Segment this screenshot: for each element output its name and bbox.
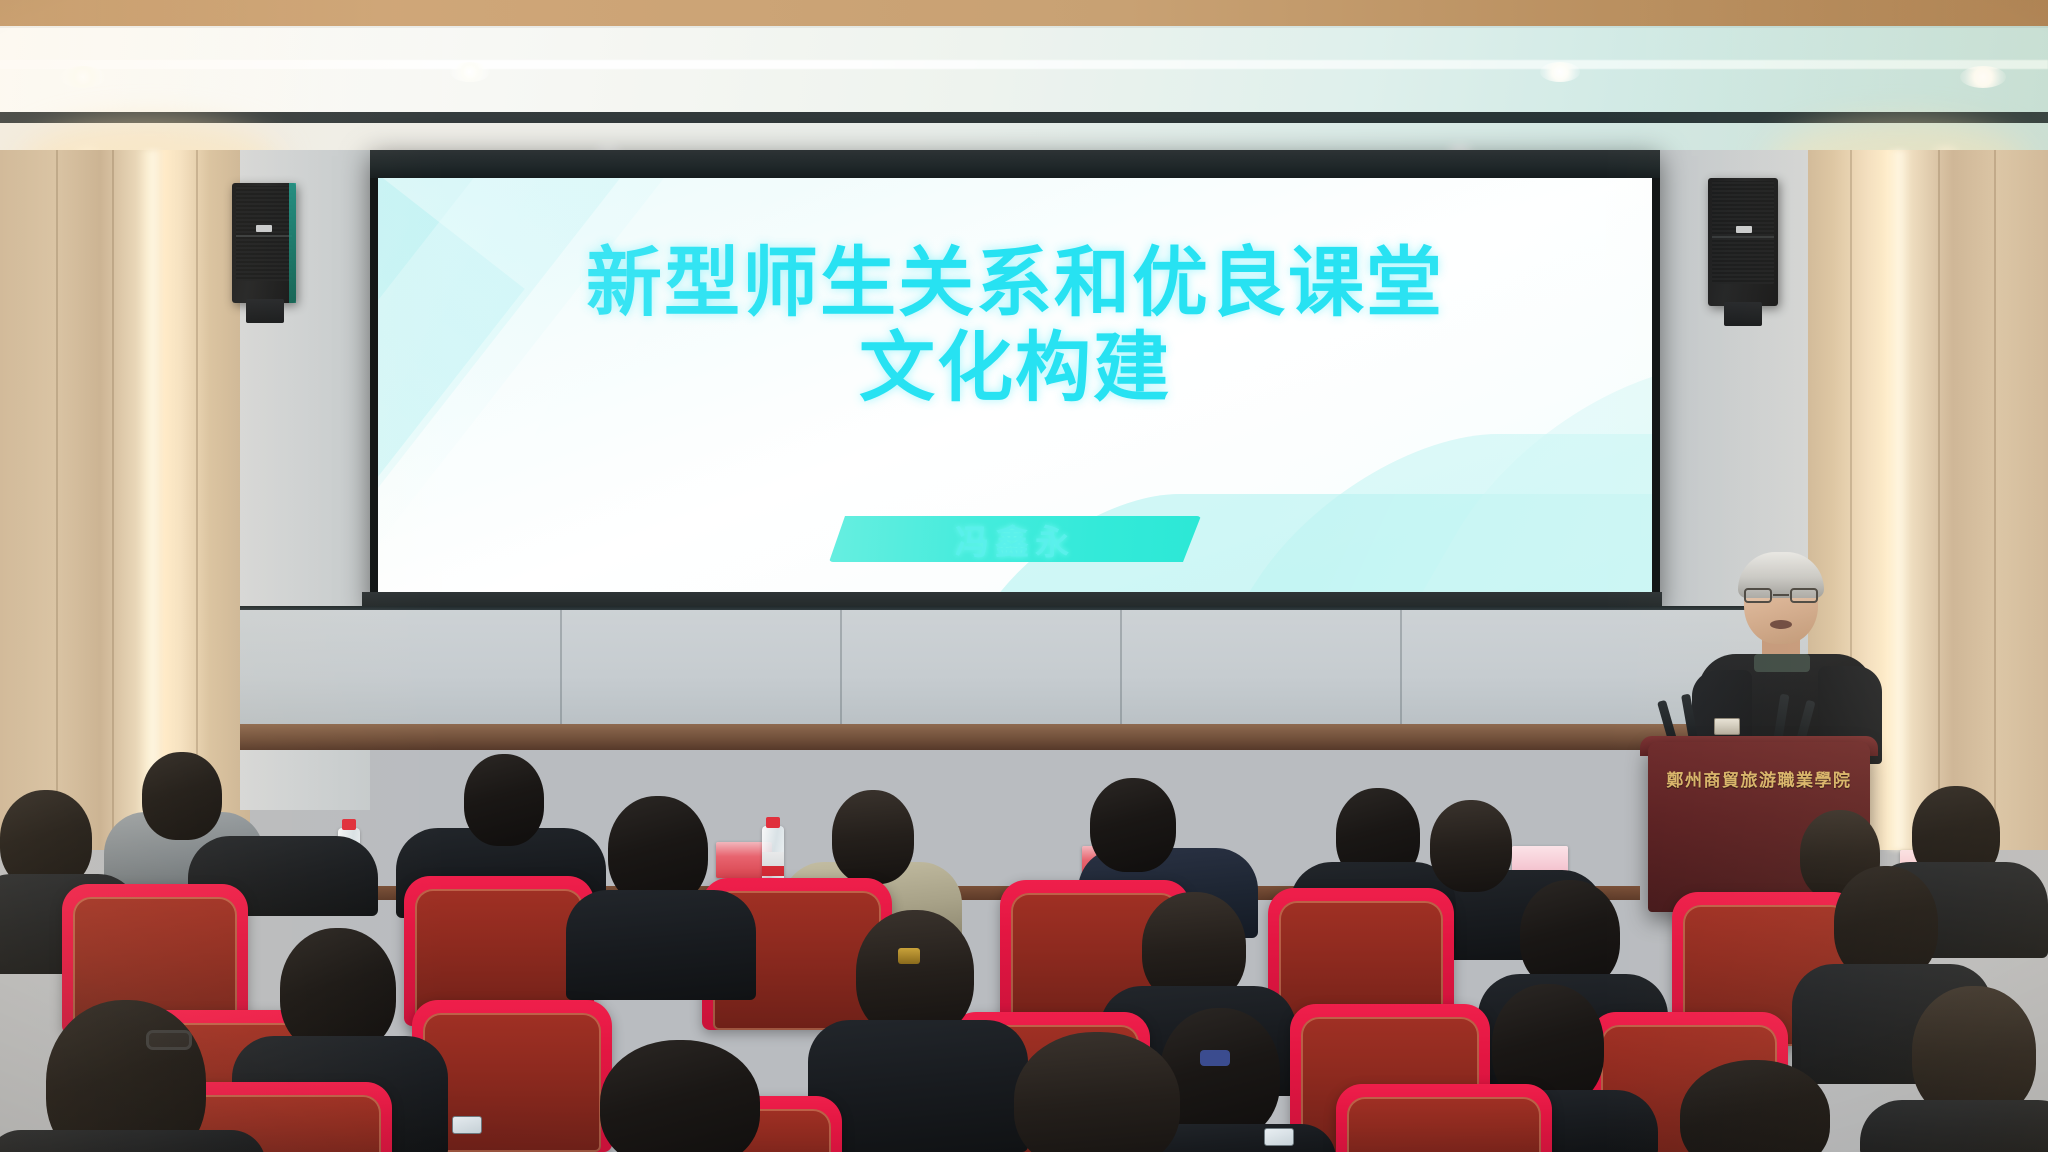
presenter-mouth: [1770, 620, 1792, 629]
audience-member-shoulders: [0, 1130, 266, 1152]
stage-wall-seam: [1400, 610, 1402, 730]
stage-wall-seam: [1120, 610, 1122, 730]
hair-clip-icon: [898, 948, 920, 964]
glasses-icon: [1744, 588, 1818, 604]
screen-valence-bar: [370, 150, 1660, 178]
audience-member-shoulders: [566, 890, 756, 1000]
audience-member-head: [856, 910, 974, 1038]
audience-member-head: [832, 790, 914, 884]
ceiling-downlight: [1960, 66, 2006, 88]
presenter-collar: [1754, 654, 1810, 672]
presentation-slide: 新型师生关系和优良课堂 文化构建 冯鑫永: [378, 178, 1652, 594]
ceiling-slab: [0, 26, 2048, 114]
ceiling-downlight: [60, 66, 106, 88]
presenter-name-badge: 冯鑫永: [829, 516, 1201, 562]
wall-speaker-left: [232, 183, 296, 303]
auditorium-seat[interactable]: [1336, 1084, 1552, 1152]
glasses-icon: [146, 1030, 192, 1050]
audience-member-head: [600, 1040, 760, 1152]
slide-title-line-2: 文化构建: [378, 325, 1652, 410]
stage-front-skirt: [240, 724, 1808, 750]
audience-member-head: [1430, 800, 1512, 892]
hair-tie-icon: [1200, 1050, 1230, 1066]
auditorium-scene: 新型师生关系和优良课堂 文化构建 冯鑫永 鄭州商貿旅游職: [0, 0, 2048, 1152]
stage-wall-seam: [840, 610, 842, 730]
smartphone-icon[interactable]: [1264, 1128, 1294, 1146]
podium-badge-plate: [1714, 718, 1740, 735]
audience-member-head: [464, 754, 544, 846]
ceiling-strip-light: [0, 60, 2048, 69]
ceiling-downlight: [1540, 62, 1580, 82]
ceiling-track-rail: [0, 112, 2048, 123]
presenter-name-text: 冯鑫永: [955, 515, 1075, 564]
audience-member-head: [1014, 1032, 1180, 1152]
audience-member-shoulders: [1860, 1100, 2048, 1152]
slide-title: 新型师生关系和优良课堂 文化构建: [378, 240, 1652, 410]
audience-member-head: [1090, 778, 1176, 872]
stage-wall-seam: [560, 610, 562, 730]
ceiling-downlight: [450, 62, 490, 82]
podium-institution-name: 鄭州商貿旅游職業學院: [1652, 766, 1866, 791]
wall-panel-left: [0, 150, 250, 850]
slide-title-line-1: 新型师生关系和优良课堂: [378, 240, 1652, 325]
wall-speaker-right: [1708, 178, 1778, 306]
smartphone-icon[interactable]: [452, 1116, 482, 1134]
stage-back-wall: [240, 610, 1808, 730]
audience-member-head: [142, 752, 222, 840]
